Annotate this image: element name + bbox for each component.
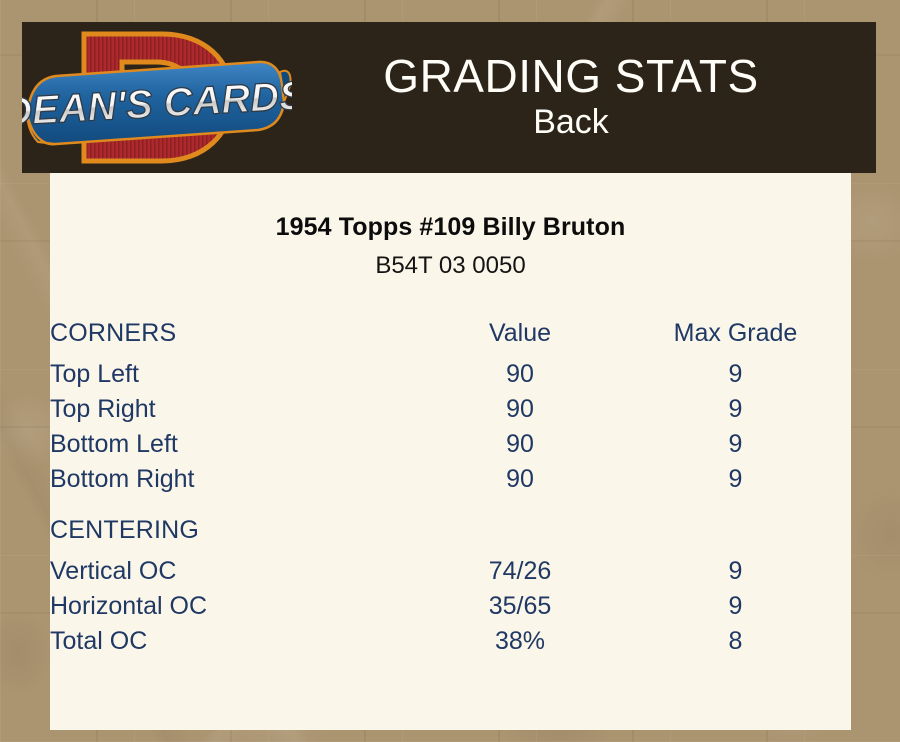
row-max-grade: 9 — [620, 462, 851, 497]
deans-cards-logo[interactable]: DEAN'S CARDS — [22, 22, 292, 173]
content-panel: 1954 Topps #109 Billy Bruton B54T 03 005… — [50, 173, 851, 730]
grading-stats-table: CORNERSValueMax GradeTop Left909Top Righ… — [50, 316, 851, 659]
row-label: Bottom Right — [50, 462, 420, 497]
table-row: Top Right909 — [50, 392, 851, 427]
row-max-grade: 9 — [620, 392, 851, 427]
row-value: 90 — [420, 357, 620, 392]
row-max-grade: 9 — [620, 427, 851, 462]
table-row: Vertical OC74/269 — [50, 554, 851, 589]
row-label: Horizontal OC — [50, 589, 420, 624]
row-value: 90 — [420, 392, 620, 427]
page-title: GRADING STATS — [292, 52, 850, 102]
column-header-max-grade — [620, 513, 851, 554]
row-value: 38% — [420, 624, 620, 659]
section-header-row: CENTERING — [50, 513, 851, 554]
column-header-value: Value — [420, 316, 620, 357]
header-titles: GRADING STATS Back — [292, 52, 876, 143]
row-max-grade: 9 — [620, 554, 851, 589]
table-row: Horizontal OC35/659 — [50, 589, 851, 624]
page-subtitle: Back — [292, 102, 850, 143]
table-row: Top Left909 — [50, 357, 851, 392]
row-max-grade: 8 — [620, 624, 851, 659]
column-header-max-grade: Max Grade — [620, 316, 851, 357]
section-title: CORNERS — [50, 316, 420, 357]
row-value: 90 — [420, 427, 620, 462]
spacer-cell — [50, 497, 851, 513]
row-label: Vertical OC — [50, 554, 420, 589]
row-max-grade: 9 — [620, 357, 851, 392]
column-header-value — [420, 513, 620, 554]
row-label: Top Left — [50, 357, 420, 392]
section-header-row: CORNERSValueMax Grade — [50, 316, 851, 357]
table-row: Bottom Left909 — [50, 427, 851, 462]
row-value: 90 — [420, 462, 620, 497]
header-bar: DEAN'S CARDS GRADING STATS Back — [22, 22, 876, 173]
row-value: 74/26 — [420, 554, 620, 589]
row-max-grade: 9 — [620, 589, 851, 624]
card-serial-number: B54T 03 0050 — [50, 252, 851, 280]
row-value: 35/65 — [420, 589, 620, 624]
section-title: CENTERING — [50, 513, 420, 554]
card-title: 1954 Topps #109 Billy Bruton — [50, 213, 851, 242]
row-label: Total OC — [50, 624, 420, 659]
row-label: Top Right — [50, 392, 420, 427]
section-spacer — [50, 497, 851, 513]
table-row: Total OC38%8 — [50, 624, 851, 659]
row-label: Bottom Left — [50, 427, 420, 462]
logo-ribbon: DEAN'S CARDS — [22, 62, 292, 144]
table-row: Bottom Right909 — [50, 462, 851, 497]
